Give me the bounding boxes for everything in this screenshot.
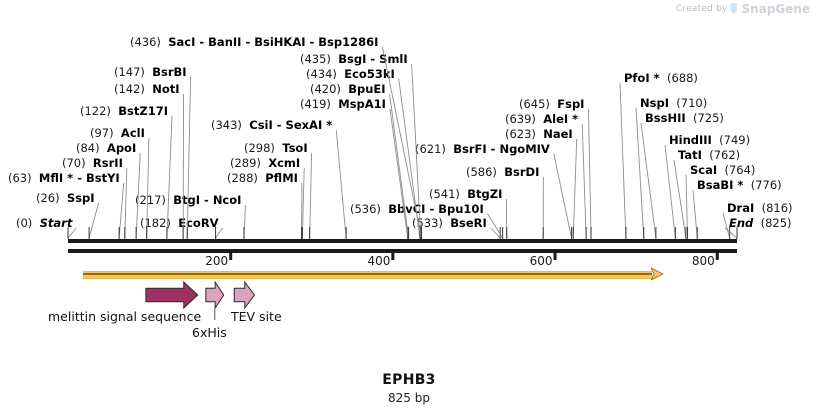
feature-arrow-tev-site [234,282,254,308]
feature-arrow-melittin-signal-sequence [146,282,198,308]
map-subtitle: 825 bp [0,391,818,405]
feature-arrows [0,0,818,412]
feature-connector-line [214,308,215,320]
feature-arrow-6xhis [206,282,224,308]
feature-label-tev-site: TEV site [231,309,282,324]
snapgene-sequence-map: Created by SnapGene (0) Start(26) SspI(6… [0,0,818,412]
feature-label-6xhis: 6xHis [192,325,227,340]
feature-label-melittin-signal-sequence: melittin signal sequence [48,309,201,324]
map-title: EPHB3 [0,372,818,388]
